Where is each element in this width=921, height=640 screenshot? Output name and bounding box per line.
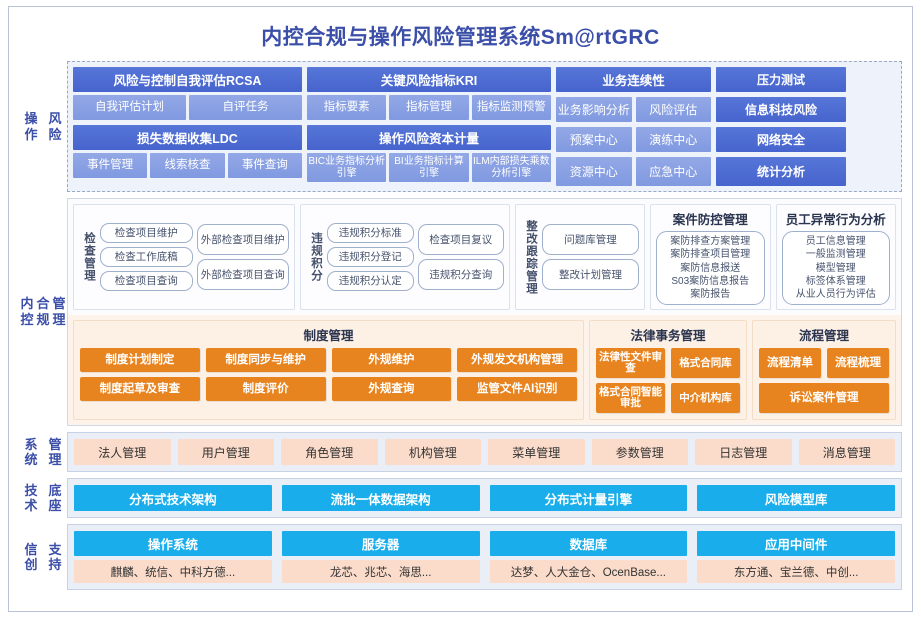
pill-inspect-item-maintain[interactable]: 检查项目维护 [100,223,193,243]
btn-regulatory-ai-recognition[interactable]: 监管文件AI识别 [457,377,577,401]
pill-inspect-workpaper[interactable]: 检查工作底稿 [100,247,193,267]
sub-capital-ilm[interactable]: ILM内部损失乘数分析引擎 [472,153,551,182]
system-management-panel: 法人管理 用户管理 角色管理 机构管理 菜单管理 参数管理 日志管理 消息管理 [67,432,902,472]
sub-ldc-event-query[interactable]: 事件查询 [228,153,302,178]
pill-violation-register[interactable]: 违规积分登记 [327,247,414,267]
block-capital: 操作风险资本计量 BIC业务指标分析引擎 BI业务指标计算引擎 ILM内部损失乘… [307,125,551,182]
block-header-kri[interactable]: 关键风险指标KRI [307,67,551,92]
btn-process-sorting[interactable]: 流程梳理 [827,348,889,378]
xc-column-database: 数据库 达梦、人大金仓、OcenBase... [490,531,688,583]
case-item-s03-report[interactable]: S03案防信息报告 [661,275,760,288]
inspection-col-a: 检查项目维护 检查工作底稿 检查项目查询 [100,223,193,291]
block-header-capital[interactable]: 操作风险资本计量 [307,125,551,150]
xc-sub-database[interactable]: 达梦、人大金仓、OcenBase... [490,560,688,583]
btn-policy-plan[interactable]: 制度计划制定 [80,348,200,372]
panel-label-violation: 违规积分 [306,232,322,282]
tech-item-risk-model-library[interactable]: 风险模型库 [697,485,895,511]
xc-head-os[interactable]: 操作系统 [74,531,272,556]
band-system-management: 系统管理 法人管理 用户管理 角色管理 机构管理 菜单管理 参数管理 日志管理 … [19,432,902,472]
sub-ldc-event-mgmt[interactable]: 事件管理 [73,153,147,178]
page-title: 内控合规与操作风险管理系统Sm@rtGRC [9,7,912,61]
diagram-frame: 内控合规与操作风险管理系统Sm@rtGRC 操作风险 风险与控制自我评估RCSA… [8,6,913,612]
xc-head-middleware[interactable]: 应用中间件 [697,531,895,556]
or-column-1: 风险与控制自我评估RCSA 自我评估计划 自评任务 损失数据收集LDC 事件管理 [73,67,302,186]
panel-title-process: 流程管理 [759,325,889,344]
tile-stress-test[interactable]: 压力测试 [716,67,846,92]
band-label-operational-risk: 操作风险 [19,61,67,192]
tech-item-stream-batch-data[interactable]: 流批一体数据架构 [282,485,480,511]
pill-problem-library[interactable]: 问题库管理 [542,224,639,255]
sys-item-legal-entity[interactable]: 法人管理 [74,439,171,465]
band-label-internal-control: 内控合规管理 [19,198,67,426]
sub-rcsa-task[interactable]: 自评任务 [189,95,302,120]
emp-item-general-monitor[interactable]: 一般监测管理 [787,248,886,261]
btn-external-reg-query[interactable]: 外规查询 [332,377,452,401]
btn-policy-sync[interactable]: 制度同步与维护 [206,348,326,372]
btn-external-reg-maintain[interactable]: 外规维护 [332,348,452,372]
employee-behavior-items[interactable]: 员工信息管理 一般监测管理 模型管理 标签体系管理 从业人员行为评估 [782,231,891,305]
panel-title-employee-behavior: 员工异常行为分析 [782,209,891,228]
tile-drill-center[interactable]: 演练中心 [636,127,712,152]
panel-process-management: 流程管理 流程清单 流程梳理 诉讼案件管理 [752,320,896,420]
btn-external-issuing-org[interactable]: 外规发文机构管理 [457,348,577,372]
violation-col-a: 违规积分标准 违规积分登记 违规积分认定 [327,223,414,291]
sub-kri-elements[interactable]: 指标要素 [307,95,386,120]
panel-inspection-management: 检查管理 检查项目维护 检查工作底稿 检查项目查询 外部检查项目维护 外部检查项… [73,204,295,310]
tech-item-distributed-engine[interactable]: 分布式计量引擎 [490,485,688,511]
or-column-2: 关键风险指标KRI 指标要素 指标管理 指标监测预警 操作风险资本计量 [307,67,551,186]
btn-policy-draft-review[interactable]: 制度起草及审查 [80,377,200,401]
rectification-col: 问题库管理 整改计划管理 [542,224,639,290]
sys-item-parameter[interactable]: 参数管理 [592,439,689,465]
tech-foundation-panel: 分布式技术架构 流批一体数据架构 分布式计量引擎 风险模型库 [67,478,902,518]
tech-item-distributed-architecture[interactable]: 分布式技术架构 [74,485,272,511]
or-column-3: 业务连续性 业务影响分析 风险评估 预案中心 演练中心 资源中心 [556,67,711,186]
panel-title-legal: 法律事务管理 [596,325,740,344]
btn-standard-contract-library[interactable]: 格式合同库 [671,348,740,378]
sys-item-menu[interactable]: 菜单管理 [488,439,585,465]
xc-column-server: 服务器 龙芯、兆芯、海思... [282,531,480,583]
sub-kri-monitor[interactable]: 指标监测预警 [472,95,551,120]
xc-column-os: 操作系统 麒麟、统信、中科方德... [74,531,272,583]
internal-control-panel: 检查管理 检查项目维护 检查工作底稿 检查项目查询 外部检查项目维护 外部检查项… [67,198,902,426]
panel-policy-management: 制度管理 制度计划制定 制度同步与维护 外规维护 外规发文机构管理 制度起草及审… [73,320,584,420]
sub-capital-bi[interactable]: BI业务指标计算引擎 [389,153,468,182]
band-tech-foundation: 技术底座 分布式技术架构 流批一体数据架构 分布式计量引擎 风险模型库 [19,478,902,518]
sub-rcsa-plan[interactable]: 自我评估计划 [73,95,186,120]
tile-it-risk[interactable]: 信息科技风险 [716,97,846,122]
emp-item-info-mgmt[interactable]: 员工信息管理 [787,235,886,248]
panel-case-prevention: 案件防控管理 案防排查方案管理 案防排查项目管理 案防信息报送 S03案防信息报… [650,204,771,310]
inspection-col-b: 外部检查项目维护 外部检查项目查询 [197,224,290,290]
case-prevention-items[interactable]: 案防排查方案管理 案防排查项目管理 案防信息报送 S03案防信息报告 案防报告 [656,231,765,305]
sub-kri-manage[interactable]: 指标管理 [389,95,468,120]
xc-sub-os[interactable]: 麒麟、统信、中科方德... [74,560,272,583]
pill-violation-query[interactable]: 违规积分查询 [418,259,505,290]
band-xinchuang-support: 信创支持 操作系统 麒麟、统信、中科方德... 服务器 龙芯、兆芯、海思... … [19,524,902,590]
panel-title-policy: 制度管理 [80,325,577,344]
xc-head-server[interactable]: 服务器 [282,531,480,556]
btn-policy-evaluate[interactable]: 制度评价 [206,377,326,401]
btn-legal-doc-review[interactable]: 法律性文件审查 [596,348,665,378]
tile-emergency-center[interactable]: 应急中心 [636,157,712,186]
case-item-project-mgmt[interactable]: 案防排查项目管理 [661,248,760,261]
emp-item-staff-eval[interactable]: 从业人员行为评估 [787,288,886,301]
or-column-4: 压力测试 信息科技风险 网络安全 统计分析 [716,67,846,186]
sys-item-message[interactable]: 消息管理 [799,439,896,465]
emp-item-tag-system[interactable]: 标签体系管理 [787,275,886,288]
sub-ldc-clue-check[interactable]: 线索核查 [150,153,224,178]
xc-sub-middleware[interactable]: 东方通、宝兰德、中创... [697,560,895,583]
band-operational-risk: 操作风险 风险与控制自我评估RCSA 自我评估计划 自评任务 [19,61,902,192]
pill-inspect-item-review[interactable]: 检查项目复议 [418,224,505,255]
tile-resource-center[interactable]: 资源中心 [556,157,632,186]
sys-item-user[interactable]: 用户管理 [178,439,275,465]
tile-plan-center[interactable]: 预案中心 [556,127,632,152]
panel-label-inspection: 检查管理 [79,232,95,282]
xc-head-database[interactable]: 数据库 [490,531,688,556]
btn-intermediary-library[interactable]: 中介机构库 [671,383,740,413]
system-architecture-diagram: 内控合规与操作风险管理系统Sm@rtGRC 操作风险 风险与控制自我评估RCSA… [0,0,921,640]
violation-col-b: 检查项目复议 违规积分查询 [418,224,505,290]
panel-title-case-prevention: 案件防控管理 [656,209,765,228]
btn-litigation-case-mgmt[interactable]: 诉讼案件管理 [759,383,889,413]
block-header-rcsa[interactable]: 风险与控制自我评估RCSA [73,67,302,92]
sys-item-role[interactable]: 角色管理 [281,439,378,465]
sys-item-organization[interactable]: 机构管理 [385,439,482,465]
btn-contract-ai-approval[interactable]: 格式合同智能审批 [596,383,665,413]
pill-inspect-item-query[interactable]: 检查项目查询 [100,271,193,291]
panel-violation-points: 违规积分 违规积分标准 违规积分登记 违规积分认定 检查项目复议 违规积分查询 [300,204,510,310]
band-internal-control: 内控合规管理 检查管理 检查项目维护 检查工作底稿 检查项目查询 [19,198,902,426]
band-label-system: 系统管理 [19,432,67,472]
block-header-ldc[interactable]: 损失数据收集LDC [73,125,302,150]
panel-rectification-tracking: 整改跟踪管理 问题库管理 整改计划管理 [515,204,645,310]
block-ldc: 损失数据收集LDC 事件管理 线索核查 事件查询 [73,125,302,178]
operational-risk-panel: 风险与控制自我评估RCSA 自我评估计划 自评任务 损失数据收集LDC 事件管理 [67,61,902,192]
pill-violation-confirm[interactable]: 违规积分认定 [327,271,414,291]
tile-risk-assessment[interactable]: 风险评估 [636,97,712,122]
case-item-report[interactable]: 案防报告 [661,288,760,301]
pill-violation-standard[interactable]: 违规积分标准 [327,223,414,243]
pill-rectification-plan[interactable]: 整改计划管理 [542,259,639,290]
pill-external-inspect-query[interactable]: 外部检查项目查询 [197,259,290,290]
tile-business-impact-analysis[interactable]: 业务影响分析 [556,97,632,122]
block-rcsa: 风险与控制自我评估RCSA 自我评估计划 自评任务 [73,67,302,120]
pill-external-inspect-maintain[interactable]: 外部检查项目维护 [197,224,290,255]
block-kri: 关键风险指标KRI 指标要素 指标管理 指标监测预警 [307,67,551,120]
xc-sub-server[interactable]: 龙芯、兆芯、海思... [282,560,480,583]
xc-column-middleware: 应用中间件 东方通、宝兰德、中创... [697,531,895,583]
emp-item-model-mgmt[interactable]: 模型管理 [787,262,886,275]
case-item-info-report[interactable]: 案防信息报送 [661,262,760,275]
sub-capital-bic[interactable]: BIC业务指标分析引擎 [307,153,386,182]
band-label-tech: 技术底座 [19,478,67,518]
btn-process-list[interactable]: 流程清单 [759,348,821,378]
panel-legal-affairs: 法律事务管理 法律性文件审查 格式合同库 格式合同智能审批 中介机构库 [589,320,747,420]
band-label-xinchuang: 信创支持 [19,524,67,590]
tile-network-security[interactable]: 网络安全 [716,127,846,152]
case-item-plan-mgmt[interactable]: 案防排查方案管理 [661,235,760,248]
tile-statistical-analysis[interactable]: 统计分析 [716,157,846,186]
panel-label-rectification: 整改跟踪管理 [521,220,537,295]
sys-item-log[interactable]: 日志管理 [695,439,792,465]
panel-employee-behavior: 员工异常行为分析 员工信息管理 一般监测管理 模型管理 标签体系管理 从业人员行… [776,204,897,310]
block-header-bcm[interactable]: 业务连续性 [556,67,711,92]
xinchuang-support-panel: 操作系统 麒麟、统信、中科方德... 服务器 龙芯、兆芯、海思... 数据库 达… [67,524,902,590]
